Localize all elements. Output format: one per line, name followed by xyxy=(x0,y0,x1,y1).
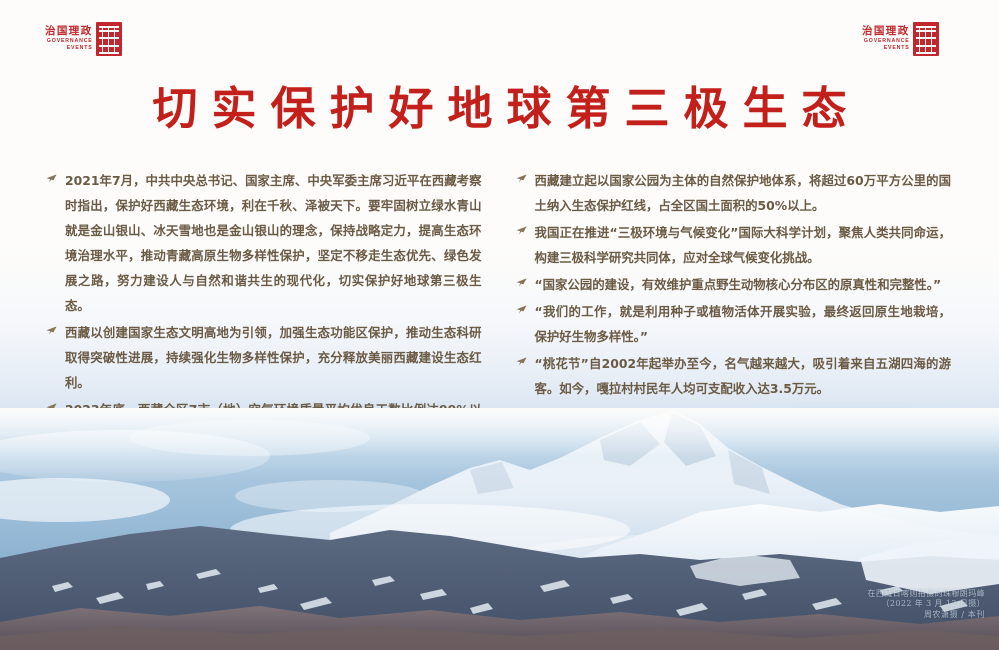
page-title: 切实保护好地球第三极生态 xyxy=(0,86,999,131)
brand-logo-english-line2: EVENTS xyxy=(67,45,93,53)
list-item-text: 2021年7月，中共中央总书记、国家主席、中央军委主席习近平在西藏考察时指出，保… xyxy=(65,168,482,318)
list-item-text: “我们的工作，就是利用种子或植物活体开展实验，最终返回原生地栽培，保护好生物多样… xyxy=(535,299,952,349)
arrow-marker-icon xyxy=(516,299,528,314)
list-item-text: 西藏建立起以国家公园为主体的自然保护地体系，将超过60万平方公里的国土纳入生态保… xyxy=(535,168,952,218)
brand-logo-chinese: 治国理政 xyxy=(862,25,910,37)
photo-credit: 周农潇摄 / 本刊 xyxy=(867,610,985,621)
arrow-marker-icon xyxy=(516,220,528,235)
list-item: “国家公园的建设，有效维护重点野生动物核心分布区的原真性和完整性。” xyxy=(516,272,952,297)
list-item: 西藏以创建国家生态文明高地为引领，加强生态功能区保护，推动生态科研取得突破性进展… xyxy=(46,320,482,395)
everest-photo-graphic xyxy=(0,408,999,650)
arrow-marker-icon xyxy=(46,168,58,183)
everest-photograph: 在西藏日喀则拍摄的珠穆朗玛峰 （2022 年 3 月 12 日摄） 周农潇摄 /… xyxy=(0,408,999,650)
list-item-text: 我国正在推进“三极环境与气候变化”国际大科学计划，聚焦人类共同命运，构建三极科学… xyxy=(535,220,952,270)
brand-logo-text: 治国理政 GOVERNANCE EVENTS xyxy=(45,25,93,52)
list-item: 2021年7月，中共中央总书记、国家主席、中央军委主席习近平在西藏考察时指出，保… xyxy=(46,168,482,318)
red-seal-icon xyxy=(96,22,122,56)
photo-caption-line1: 在西藏日喀则拍摄的珠穆朗玛峰 xyxy=(867,589,985,600)
arrow-marker-icon xyxy=(516,351,528,366)
brand-logo-text: 治国理政 GOVERNANCE EVENTS xyxy=(862,25,910,52)
list-item: 我国正在推进“三极环境与气候变化”国际大科学计划，聚焦人类共同命运，构建三极科学… xyxy=(516,220,952,270)
arrow-marker-icon xyxy=(516,168,528,183)
poster-page: 治国理政 GOVERNANCE EVENTS 治国理政 GOVERNANCE E… xyxy=(0,0,999,650)
photo-caption: 在西藏日喀则拍摄的珠穆朗玛峰 （2022 年 3 月 12 日摄） 周农潇摄 /… xyxy=(867,589,985,621)
arrow-marker-icon xyxy=(46,320,58,335)
brand-logo-left[interactable]: 治国理政 GOVERNANCE EVENTS xyxy=(45,22,122,56)
photo-caption-line2: （2022 年 3 月 12 日摄） xyxy=(867,599,985,610)
list-item: 西藏建立起以国家公园为主体的自然保护地体系，将超过60万平方公里的国土纳入生态保… xyxy=(516,168,952,218)
brand-logo-right[interactable]: 治国理政 GOVERNANCE EVENTS xyxy=(862,22,939,56)
list-item-text: 西藏以创建国家生态文明高地为引领，加强生态功能区保护，推动生态科研取得突破性进展… xyxy=(65,320,482,395)
brand-logo-chinese: 治国理政 xyxy=(45,25,93,37)
arrow-marker-icon xyxy=(516,272,528,287)
brand-logo-english-line1: GOVERNANCE xyxy=(47,38,93,46)
list-item-text: “桃花节”自2002年起举办至今，名气越来越大，吸引着来自五湖四海的游客。如今，… xyxy=(535,351,952,401)
brand-logo-english-line2: EVENTS xyxy=(884,45,910,53)
brand-logo-english-line1: GOVERNANCE xyxy=(864,38,910,46)
red-seal-icon xyxy=(913,22,939,56)
list-item: “桃花节”自2002年起举办至今，名气越来越大，吸引着来自五湖四海的游客。如今，… xyxy=(516,351,952,401)
list-item: “我们的工作，就是利用种子或植物活体开展实验，最终返回原生地栽培，保护好生物多样… xyxy=(516,299,952,349)
list-item-text: “国家公园的建设，有效维护重点野生动物核心分布区的原真性和完整性。” xyxy=(535,272,952,297)
